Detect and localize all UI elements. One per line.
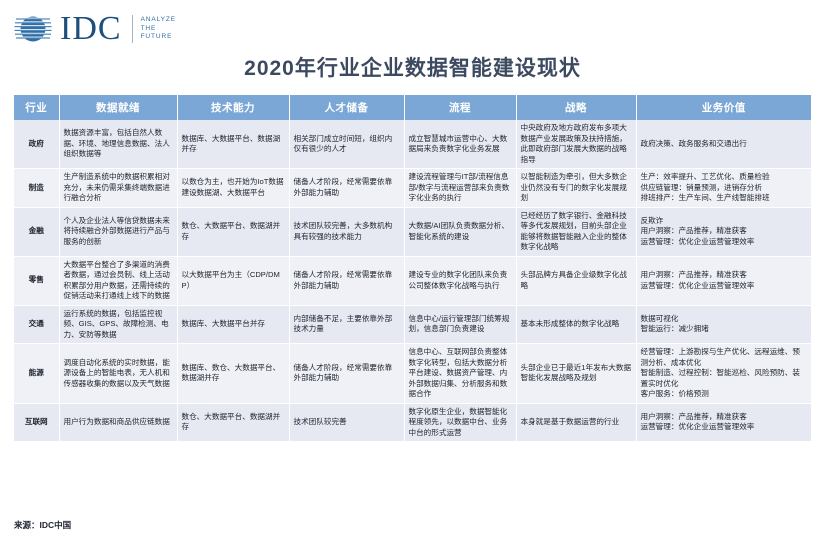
logo-divider — [132, 15, 133, 43]
cell-business-value: 反欺诈用户洞察：产品推荐，精准获客运营管理：优化企业运营管理效率 — [636, 207, 811, 256]
cell-talent: 储备人才阶段，经常需要依靠外部能力辅助 — [289, 169, 404, 208]
cell-process: 信息中心/运行管理部门统筹规划，信息部门负责建设 — [404, 305, 516, 344]
cell-business-value: 生产：效率提升、工艺优化、质量检验供应链管理：销量预测，进销存分析排班排产：生产… — [636, 169, 811, 208]
cell-process: 建设专业的数字化团队来负责公司整体数字化战略与执行 — [404, 256, 516, 305]
cell-business-value: 用户洞察：产品推荐，精准获客运营管理：优化企业运营管理效率 — [636, 256, 811, 305]
cell-strategy: 以智能制造为牵引，但大多数企业仍然没有专门的数字化发展规划 — [516, 169, 636, 208]
column-header-tech-ability: 技术能力 — [177, 95, 289, 120]
table-body: 政府数据资源丰富，包括自然人数据、环境、地理信息数据、法人组织数据等数据库、大数… — [14, 120, 811, 442]
cell-business-value: 政府决策、政务服务和交通出行 — [636, 120, 811, 169]
tagline-line-1: ANALYZE — [141, 16, 176, 25]
cell-tech-ability: 以大数据平台为主（CDP/DMP） — [177, 256, 289, 305]
cell-strategy: 已经经历了数字银行、金融科技等多代发展规划，目前头部企业能够将数据智能融入企业的… — [516, 207, 636, 256]
cell-data-readiness: 大数据平台整合了多渠道的消费者数据，通过会员制、线上活动积累部分用户数据，还需持… — [59, 256, 177, 305]
column-header-industry: 行业 — [14, 95, 59, 120]
idc-logo: IDC ANALYZE THE FUTURE — [14, 10, 176, 48]
cell-strategy: 基本未形成整体的数字化战略 — [516, 305, 636, 344]
cell-industry: 能源 — [14, 344, 59, 404]
cell-data-readiness: 用户行为数据和商品供应链数据 — [59, 403, 177, 442]
table-header-row: 行业 数据就绪 技术能力 人才储备 流程 战略 业务价值 — [14, 95, 811, 120]
source-note: 来源：IDC中国 — [14, 519, 71, 531]
cell-industry: 互联网 — [14, 403, 59, 442]
cell-tech-ability: 数据库、大数据平台、数据湖并存 — [177, 120, 289, 169]
table-row: 制造生产制造系统中的数据积累相对充分，未来仍需采集终端数据进行融合分析以数仓为主… — [14, 169, 811, 208]
idc-wordmark: IDC — [60, 12, 122, 46]
cell-tech-ability: 数据库、大数据平台并存 — [177, 305, 289, 344]
cell-data-readiness: 运行系统的数据，包括监控视频、GIS、GPS、故障检测、电力、安防等数据 — [59, 305, 177, 344]
cell-strategy: 中央政府及地方政府发布多项大数据产业发展政策及扶持措施，此即政府部门发展大数据的… — [516, 120, 636, 169]
table-row: 金融个人及企业法人等信贷数据未来将持续融合外部数据进行产品与服务的创新数仓、大数… — [14, 207, 811, 256]
cell-talent: 储备人才阶段，经常需要依靠外部能力辅助 — [289, 256, 404, 305]
column-header-data-readiness: 数据就绪 — [59, 95, 177, 120]
cell-talent: 内部储备不足，主要依靠外部技术力量 — [289, 305, 404, 344]
cell-talent: 相关部门成立时间短，组织内仅有很少的人才 — [289, 120, 404, 169]
page-title: 2020年行业企业数据智能建设现状 — [0, 52, 825, 82]
column-header-process: 流程 — [404, 95, 516, 120]
table-row: 能源调度自动化系统的实时数据，能源设备上的智能电表，无人机和传感器收集的数据以及… — [14, 344, 811, 404]
cell-industry: 金融 — [14, 207, 59, 256]
table-row: 零售大数据平台整合了多渠道的消费者数据，通过会员制、线上活动积累部分用户数据，还… — [14, 256, 811, 305]
cell-tech-ability: 数据库、数仓、大数据平台、数据湖并存 — [177, 344, 289, 404]
table-row: 互联网用户行为数据和商品供应链数据数仓、大数据平台、数据湖并存技术团队较完善数字… — [14, 403, 811, 442]
cell-business-value: 数据可视化智能运行：减少拥堵 — [636, 305, 811, 344]
cell-process: 数字化原生企业，数据智能化程度领先，以数据中台、业务中台的形式运营 — [404, 403, 516, 442]
cell-business-value: 用户洞察：产品推荐，精准获客运营管理：优化企业运营管理效率 — [636, 403, 811, 442]
cell-strategy: 头部品牌方具备企业级数字化战略 — [516, 256, 636, 305]
cell-process: 建设流程管理与IT部/流程信息部/数字与流程运营部来负责数字化业务的执行 — [404, 169, 516, 208]
column-header-strategy: 战略 — [516, 95, 636, 120]
cell-talent: 技术团队较完善 — [289, 403, 404, 442]
idc-tagline: ANALYZE THE FUTURE — [141, 16, 176, 42]
cell-process: 成立智慧城市运营中心、大数据局来负责数字化业务发展 — [404, 120, 516, 169]
cell-data-readiness: 调度自动化系统的实时数据，能源设备上的智能电表，无人机和传感器收集的数据以及天气… — [59, 344, 177, 404]
cell-strategy: 本身就是基于数据运营的行业 — [516, 403, 636, 442]
cell-process: 信息中心、互联网部负责整体数字化转型，包括大数据分析平台建设、数据资产管理、内外… — [404, 344, 516, 404]
idc-globe-icon — [14, 10, 52, 48]
tagline-line-3: FUTURE — [141, 33, 176, 42]
tagline-line-2: THE — [141, 25, 176, 34]
cell-strategy: 头部企业已于最近1年发布大数据智能化发展战略及规划 — [516, 344, 636, 404]
cell-data-readiness: 生产制造系统中的数据积累相对充分，未来仍需采集终端数据进行融合分析 — [59, 169, 177, 208]
cell-data-readiness: 数据资源丰富，包括自然人数据、环境、地理信息数据、法人组织数据等 — [59, 120, 177, 169]
industry-matrix-table: 行业 数据就绪 技术能力 人才储备 流程 战略 业务价值 政府数据资源丰富，包括… — [14, 95, 811, 442]
column-header-talent: 人才储备 — [289, 95, 404, 120]
cell-talent: 技术团队较完善，大多数机构具有较强的技术能力 — [289, 207, 404, 256]
cell-industry: 交通 — [14, 305, 59, 344]
cell-process: 大数据/AI团队负责数据分析、智能化系统的建设 — [404, 207, 516, 256]
cell-tech-ability: 数仓、大数据平台、数据湖并存 — [177, 403, 289, 442]
cell-industry: 政府 — [14, 120, 59, 169]
cell-tech-ability: 数仓、大数据平台、数据湖并存 — [177, 207, 289, 256]
cell-industry: 制造 — [14, 169, 59, 208]
cell-industry: 零售 — [14, 256, 59, 305]
column-header-business-value: 业务价值 — [636, 95, 811, 120]
table-row: 交通运行系统的数据，包括监控视频、GIS、GPS、故障检测、电力、安防等数据数据… — [14, 305, 811, 344]
cell-business-value: 经营管理：上游勘探与生产优化、远程运维、预测分析、成本优化智能制造、过程控制：智… — [636, 344, 811, 404]
cell-data-readiness: 个人及企业法人等信贷数据未来将持续融合外部数据进行产品与服务的创新 — [59, 207, 177, 256]
cell-tech-ability: 以数仓为主，也开始为IoT数据建设数据湖、大数据平台 — [177, 169, 289, 208]
cell-talent: 储备人才阶段，经常需要依靠外部能力辅助 — [289, 344, 404, 404]
table-row: 政府数据资源丰富，包括自然人数据、环境、地理信息数据、法人组织数据等数据库、大数… — [14, 120, 811, 169]
